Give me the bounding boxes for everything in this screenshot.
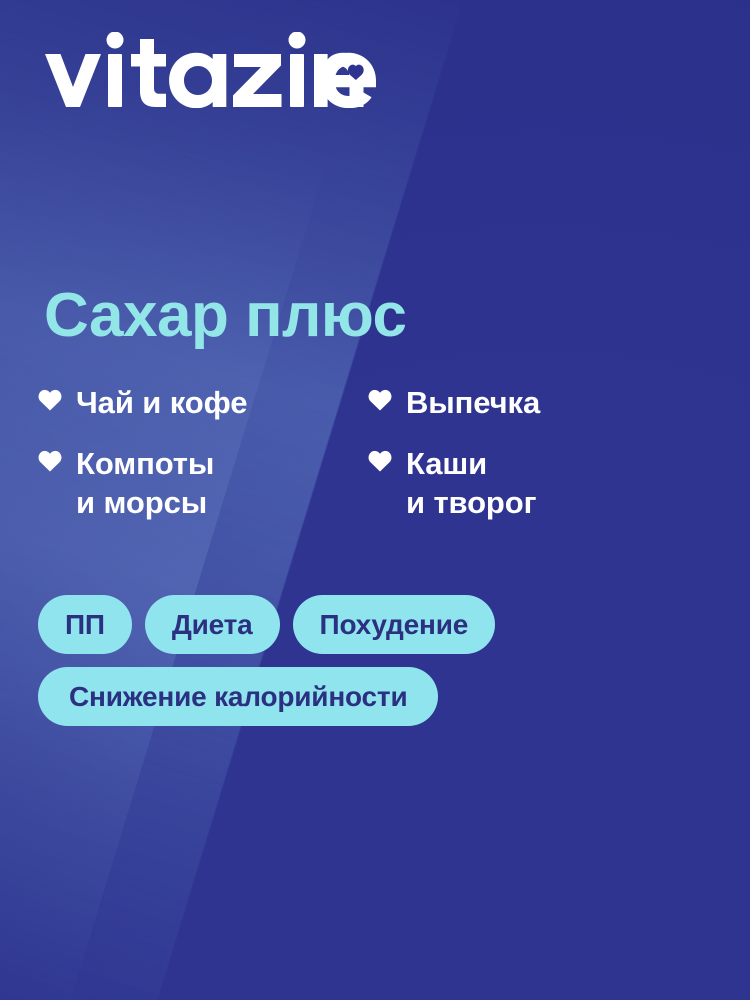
tag-pill-diet[interactable]: Диета xyxy=(145,595,280,654)
feature-item: Компоты и морсы xyxy=(38,444,368,522)
feature-label: Каши и творог xyxy=(406,444,536,522)
tag-pill-calorie-reduction[interactable]: Снижение калорийности xyxy=(38,667,438,726)
feature-item: Каши и творог xyxy=(368,444,658,522)
heart-icon xyxy=(368,450,392,474)
page-title: Сахар плюс xyxy=(44,285,407,347)
tag-pill-pp[interactable]: ПП xyxy=(38,595,132,654)
banner-content: vitazine Сахар плюс Чай и кофе Выпечка xyxy=(0,0,750,1000)
feature-list: Чай и кофе Выпечка Компоты и морсы Каши … xyxy=(38,383,658,522)
feature-label: Компоты и морсы xyxy=(76,444,214,522)
tag-pill-weight-loss[interactable]: Похудение xyxy=(293,595,496,654)
feature-label: Чай и кофе xyxy=(76,383,247,422)
feature-item: Чай и кофе xyxy=(38,383,368,422)
brand-logo[interactable]: vitazine xyxy=(45,32,381,108)
promo-banner: vitazine Сахар плюс Чай и кофе Выпечка xyxy=(0,0,750,1000)
heart-icon xyxy=(38,389,62,413)
feature-item: Выпечка xyxy=(368,383,658,422)
heart-icon xyxy=(38,450,62,474)
heart-icon xyxy=(368,389,392,413)
feature-label: Выпечка xyxy=(406,383,540,422)
vitazine-logotype-icon xyxy=(45,32,381,108)
tag-list: ПП Диета Похудение Снижение калорийности xyxy=(38,595,658,726)
